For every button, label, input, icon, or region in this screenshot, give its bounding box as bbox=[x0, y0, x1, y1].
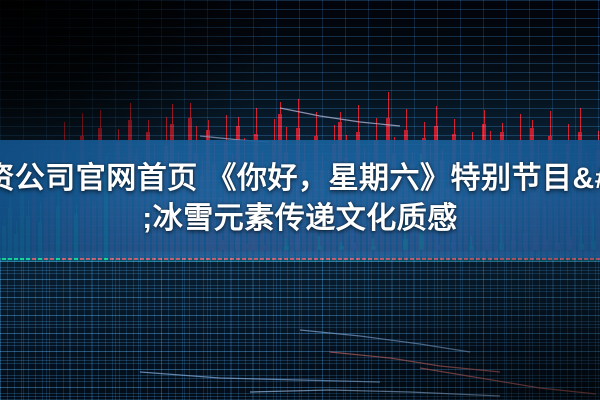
headline-line-1: 配资公司官网首页 《你好，星期六》特别节目&#32 bbox=[0, 159, 600, 199]
headline-line-2: ;冰雪元素传递文化质感 bbox=[142, 199, 458, 239]
banner-image: 配资公司官网首页 《你好，星期六》特别节目&#32 ;冰雪元素传递文化质感 bbox=[0, 0, 600, 400]
headline-text: 配资公司官网首页 《你好，星期六》特别节目&#32 ;冰雪元素传递文化质感 bbox=[0, 140, 600, 258]
